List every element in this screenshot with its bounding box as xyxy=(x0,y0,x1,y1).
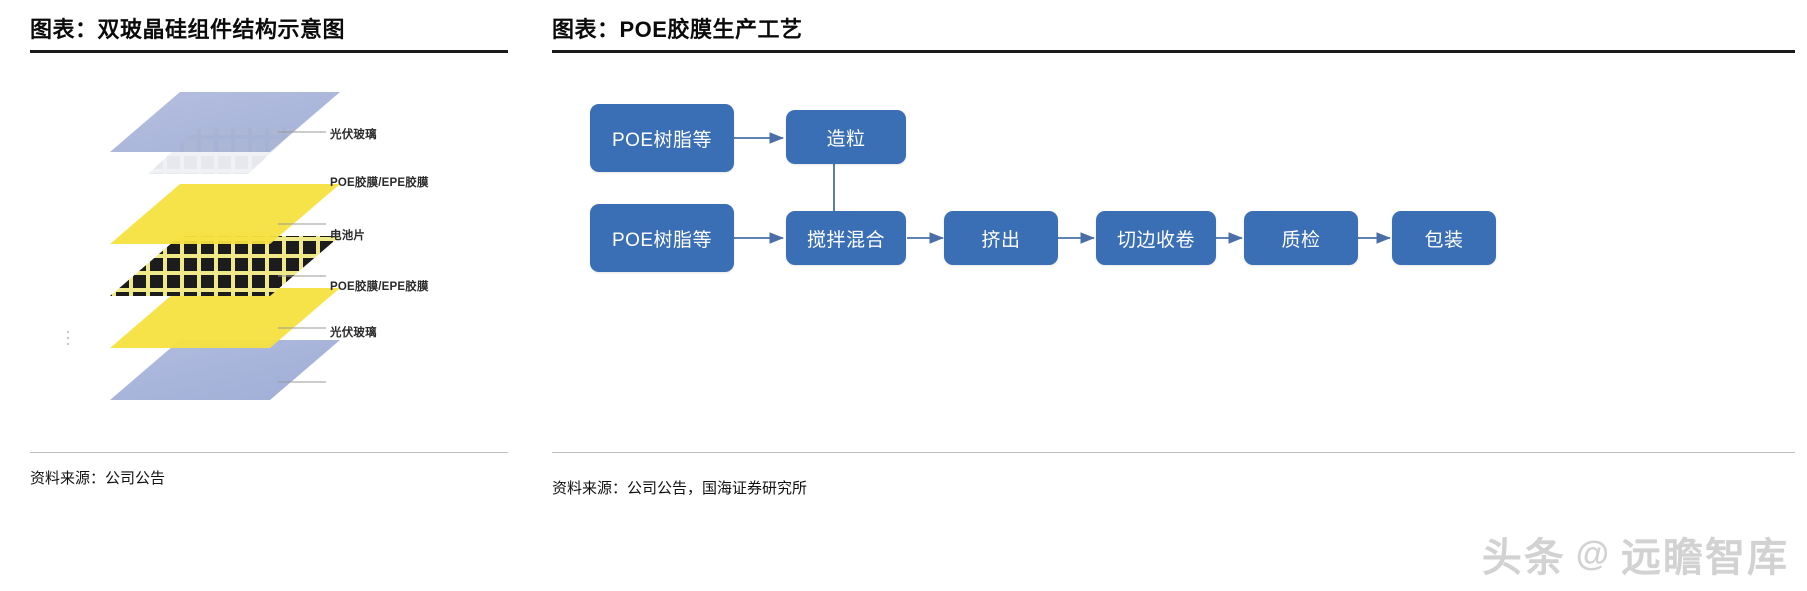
flow-arrows xyxy=(540,0,1807,591)
watermark-brand: 头条 xyxy=(1482,525,1566,583)
watermark-name: 远瞻智库 xyxy=(1621,525,1789,583)
flow-node-mixing[interactable]: 搅拌混合 xyxy=(786,211,906,265)
page-root: 图表：双玻晶硅组件结构示意图 xyxy=(0,0,1807,591)
layer-shape-cells xyxy=(110,236,340,296)
right-figure-panel: 图表：POE胶膜生产工艺 xyxy=(540,0,1807,591)
layer-shape-encapsulant-top xyxy=(110,184,340,244)
module-structure-diagram xyxy=(30,70,510,430)
layer-label-encapsulant-bottom: POE胶膜/EPE胶膜 xyxy=(330,278,429,294)
layer-label-cells: 电池片 xyxy=(330,227,365,243)
left-figure-panel: 图表：双玻晶硅组件结构示意图 xyxy=(0,0,540,591)
depth-dots xyxy=(67,331,69,345)
flow-node-packaging[interactable]: 包装 xyxy=(1392,211,1496,265)
flow-node-resin-top[interactable]: POE树脂等 xyxy=(590,104,734,172)
layer-label-glass-bottom: 光伏玻璃 xyxy=(330,324,377,340)
flow-node-extrude[interactable]: 挤出 xyxy=(944,211,1058,265)
right-source-note: 资料来源：公司公告，国海证券研究所 xyxy=(552,477,807,498)
layer-label-encapsulant-top: POE胶膜/EPE胶膜 xyxy=(330,174,429,190)
flow-node-resin-bottom[interactable]: POE树脂等 xyxy=(590,204,734,272)
watermark: 头条 @ 远瞻智库 xyxy=(1482,525,1789,583)
poe-process-flowchart: POE树脂等 造粒 POE树脂等 搅拌混合 挤出 切边收卷 质检 包装 xyxy=(540,0,1807,591)
flow-node-inspect[interactable]: 质检 xyxy=(1244,211,1358,265)
flow-node-granulate[interactable]: 造粒 xyxy=(786,110,906,164)
right-footer-rule xyxy=(552,452,1795,453)
left-title-rule xyxy=(30,50,508,53)
layer-shape-glass-bottom xyxy=(110,340,340,400)
layer-label-glass-top: 光伏玻璃 xyxy=(330,126,377,142)
layer-shape-encapsulant-bottom xyxy=(110,288,340,348)
left-footer-rule xyxy=(30,452,508,453)
watermark-at-icon: @ xyxy=(1576,535,1611,574)
left-source-note: 资料来源：公司公告 xyxy=(30,467,165,488)
flow-node-trim-roll[interactable]: 切边收卷 xyxy=(1096,211,1216,265)
left-panel-title: 图表：双玻晶硅组件结构示意图 xyxy=(30,12,345,44)
